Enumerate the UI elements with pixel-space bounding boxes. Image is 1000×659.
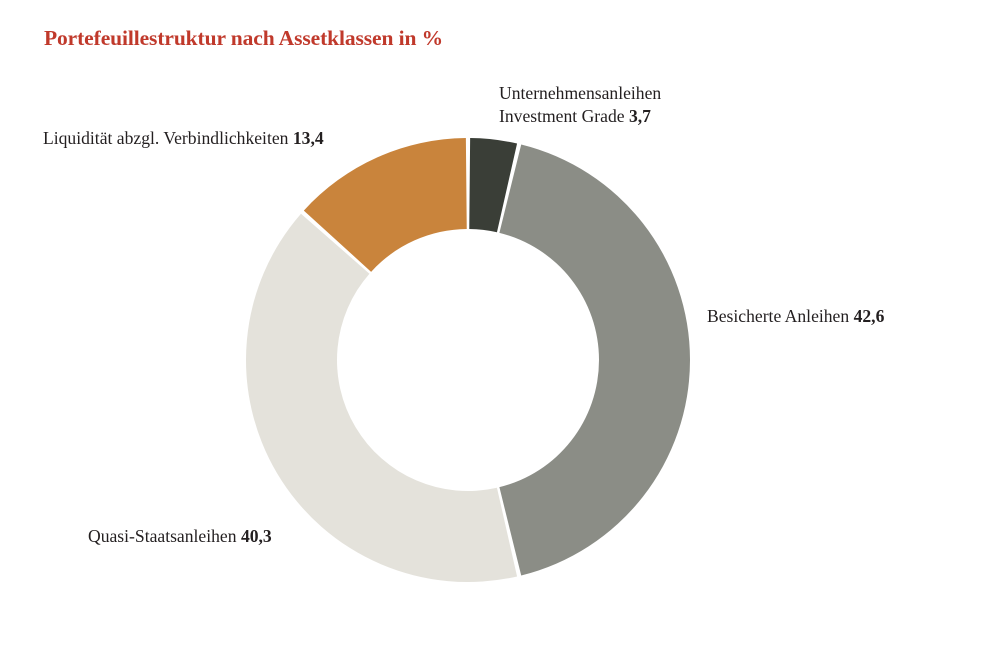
slice-label-besicherte-anleihen: Besicherte Anleihen 42,6: [707, 305, 884, 328]
slice-label-quasi-staatsanleihen: Quasi-Staatsanleihen 40,3: [88, 525, 272, 548]
donut-slice-group: [246, 138, 690, 582]
slice-label-text: Investment Grade: [499, 106, 625, 126]
slice-label-line-2: Investment Grade 3,7: [499, 105, 719, 128]
donut-slice[interactable]: [246, 214, 517, 582]
slice-label-liquiditaet-abzgl-verbindlichkeiten: Liquidität abzgl. Verbindlichkeiten 13,4: [43, 127, 324, 150]
slice-label-line-1: Unternehmensanleihen: [499, 82, 719, 105]
slice-value: 42,6: [854, 306, 885, 326]
slice-label-text: Quasi-Staatsanleihen: [88, 526, 237, 546]
slice-label-unternehmensanleihen-investment-grade: Unternehmensanleihen Investment Grade 3,…: [499, 82, 719, 128]
donut-slice[interactable]: [499, 144, 690, 575]
slice-value: 13,4: [293, 128, 324, 148]
slice-label-text: Liquidität abzgl. Verbindlichkeiten: [43, 128, 288, 148]
slice-value: 40,3: [241, 526, 272, 546]
slice-label-text: Besicherte Anleihen: [707, 306, 849, 326]
donut-chart-figure: Portefeuillestruktur nach Assetklassen i…: [0, 0, 1000, 659]
slice-value: 3,7: [629, 106, 651, 126]
